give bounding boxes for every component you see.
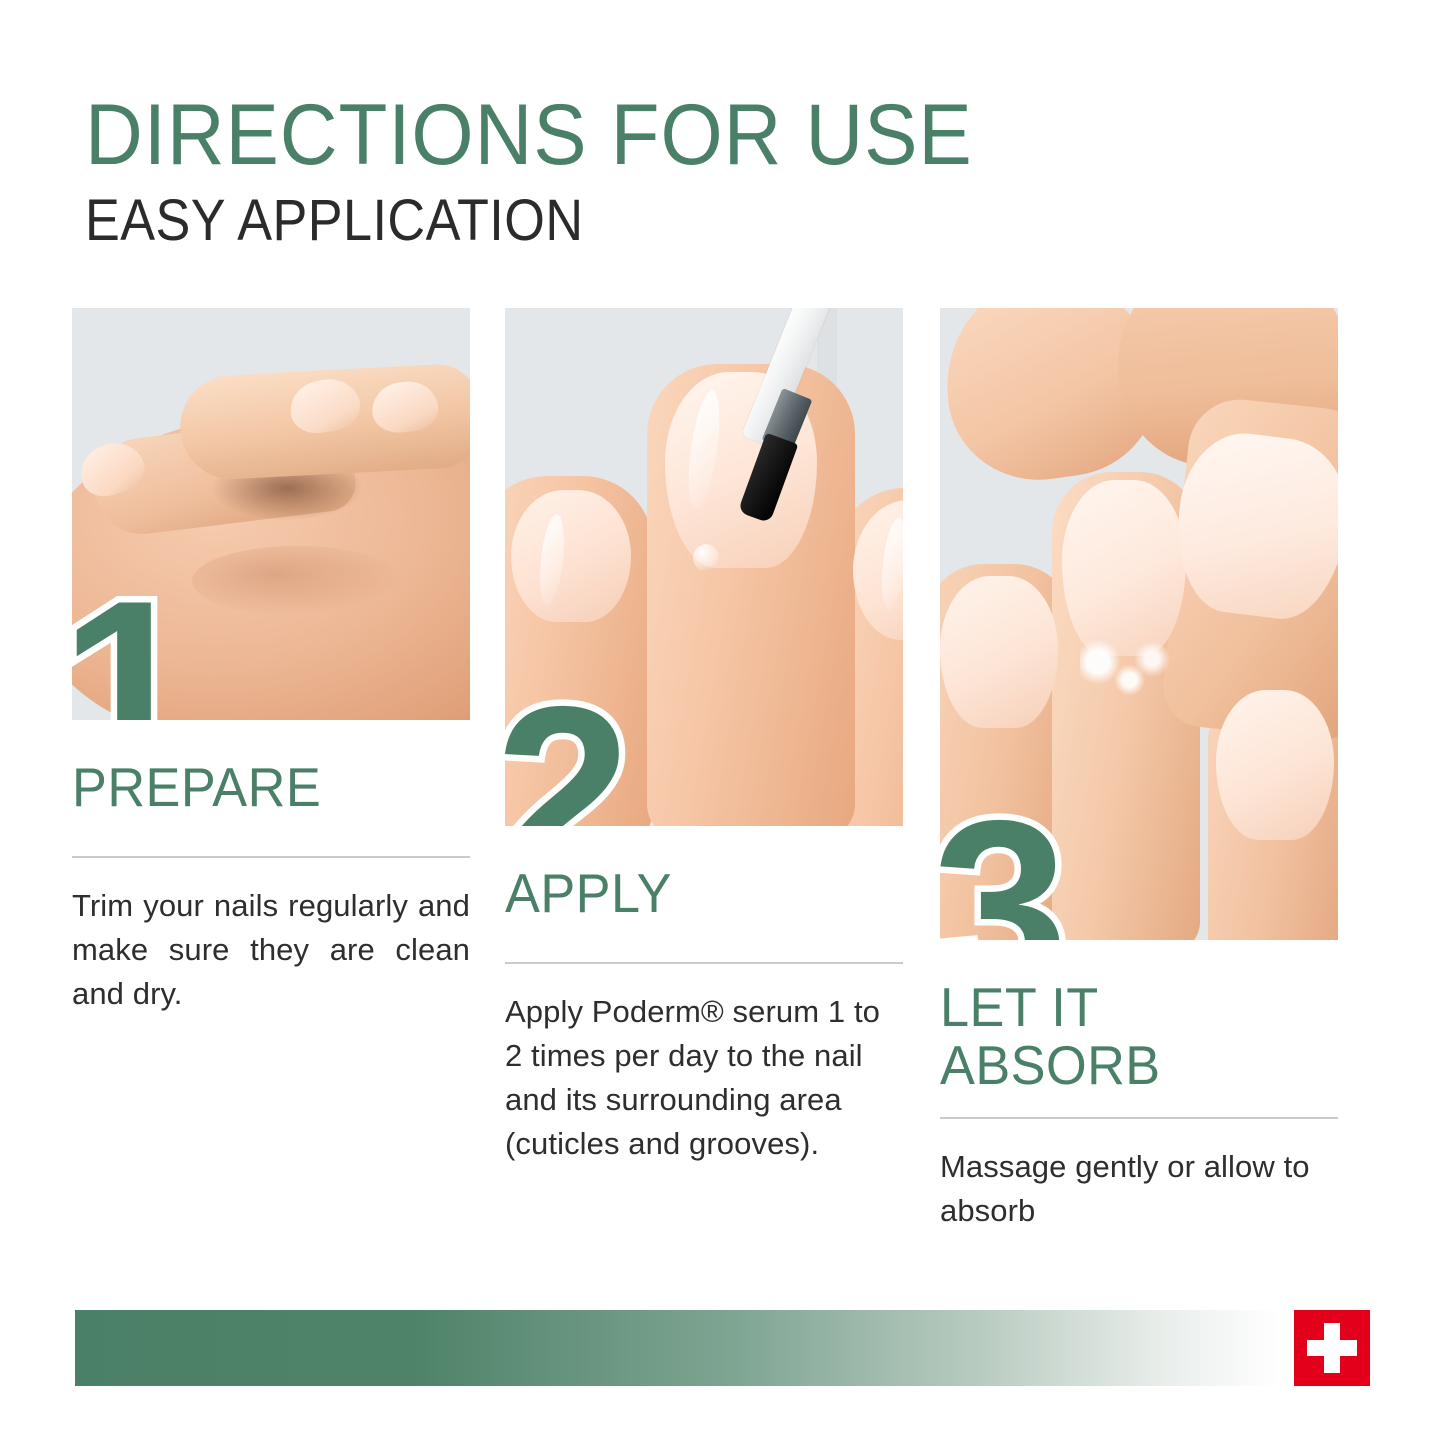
step-2-body: Apply Poderm® serum 1 to 2 times per day…: [505, 990, 903, 1166]
nail-shape: [511, 490, 631, 622]
step-2-heading: APPLY: [505, 864, 883, 922]
footer-gradient-bar: [75, 1310, 1280, 1386]
step-1-body: Trim your nails regularly and make sure …: [72, 884, 470, 1016]
step-number-2: 2: [505, 697, 627, 826]
serum-droplet: [693, 544, 719, 572]
step-number-3: 3: [940, 811, 1064, 940]
step-card-2: 2 APPLY Apply Poderm® serum 1 to 2 times…: [505, 308, 903, 1166]
nail-shape: [1216, 690, 1334, 840]
step-2-divider: [505, 962, 903, 964]
step-1-divider: [72, 856, 470, 858]
step-number-1: 1: [72, 591, 192, 720]
step-3-heading: LET IT ABSORB: [940, 978, 1318, 1095]
step-card-3: 3 LET IT ABSORB Massage gently or allow …: [940, 308, 1338, 1233]
step-1-photo: 1: [72, 308, 470, 720]
steps-container: 1 PREPARE Trim your nails regularly and …: [0, 0, 1445, 1445]
nail-shape: [1062, 480, 1186, 656]
step-3-photo: 3: [940, 308, 1338, 940]
serum-sparkle: [1080, 638, 1170, 698]
infographic-page: DIRECTIONS FOR USE EASY APPLICATION 1 PR…: [0, 0, 1445, 1445]
swiss-cross-icon: [1294, 1310, 1370, 1386]
step-1-heading: PREPARE: [72, 758, 450, 816]
footer: [75, 1310, 1370, 1386]
knuckle-shading: [192, 546, 402, 616]
step-2-photo: 2: [505, 308, 903, 826]
nail-shape: [940, 576, 1058, 728]
cross-horizontal-bar: [1307, 1340, 1357, 1356]
step-3-body: Massage gently or allow to absorb: [940, 1145, 1338, 1233]
step-card-1: 1 PREPARE Trim your nails regularly and …: [72, 308, 470, 1016]
step-3-divider: [940, 1117, 1338, 1119]
